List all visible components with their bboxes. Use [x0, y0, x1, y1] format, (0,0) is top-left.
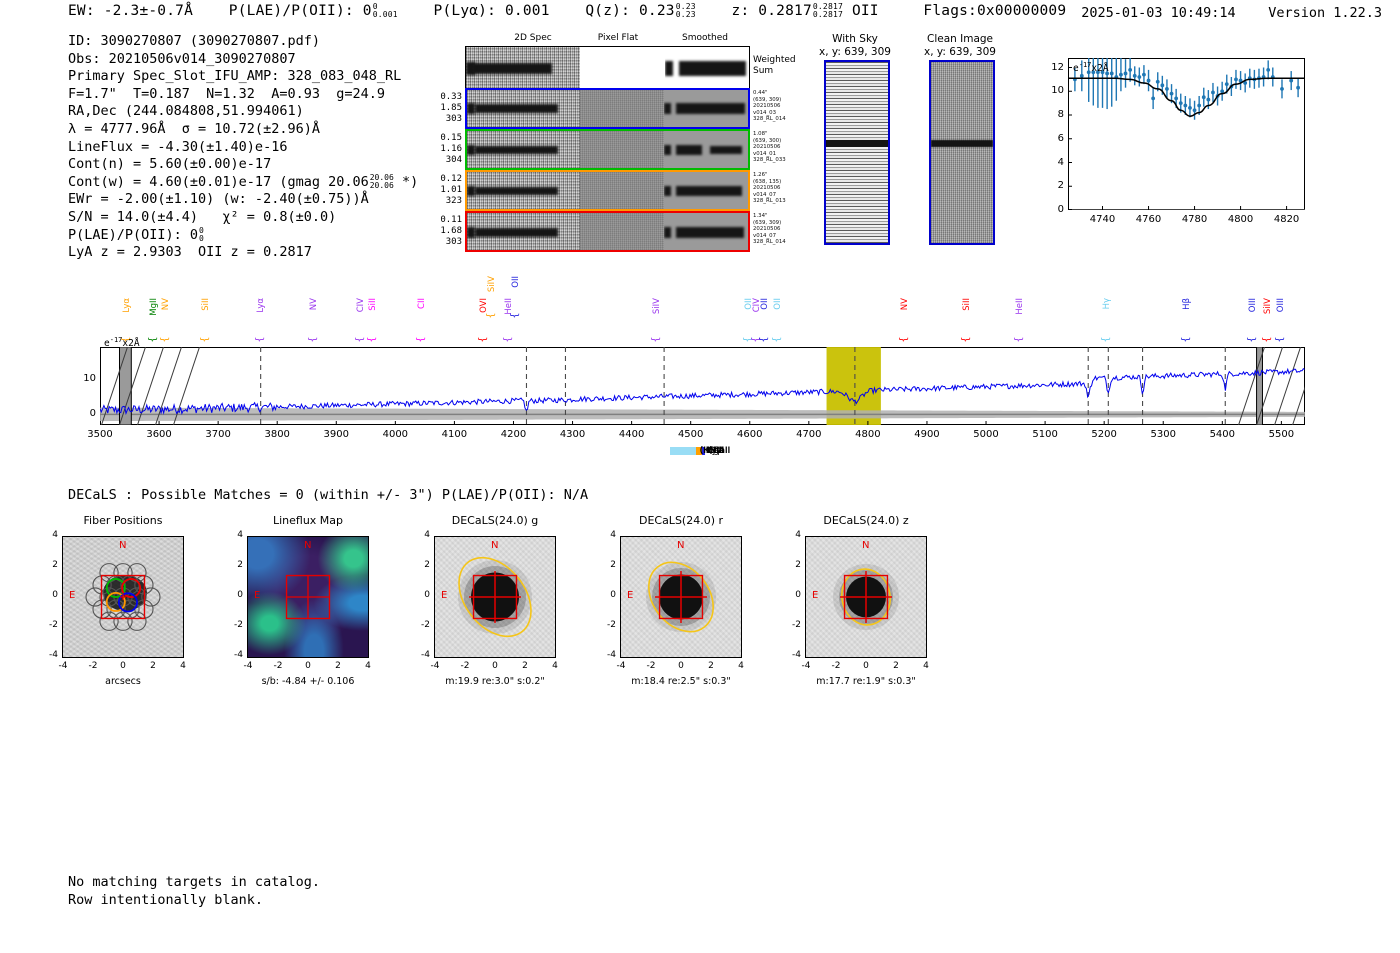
panel-ytick: -2 [44, 620, 58, 630]
clean-image[interactable] [929, 60, 995, 245]
spectrum-xtick: 3800 [255, 429, 299, 440]
spectrum-xtick: 3700 [196, 429, 240, 440]
panel-ytick: 0 [229, 590, 243, 600]
line-marker-brace: { [485, 312, 496, 318]
panel-xtick: 4 [359, 661, 377, 671]
panel-xtick: 0 [486, 661, 504, 671]
line-marker-brace: { [478, 336, 489, 342]
panel-ytick: -4 [229, 650, 243, 660]
line-marker-brace: { [1101, 336, 1112, 342]
line-marker-brace: { [1262, 336, 1273, 342]
line-marker-brace: { [502, 336, 513, 342]
fiber-row-3-meta: 1.26" (638, 135) 20210506 v014_07 328_RL… [753, 172, 813, 205]
panel-xtick: 4 [174, 661, 192, 671]
line-marker-label: CII [417, 298, 427, 309]
compass-north: N [304, 540, 311, 551]
info-primary-spec: Primary Spec_Slot_IFU_AMP: 328_083_048_R… [68, 68, 418, 86]
panel-title-decals: DECaLS(24.0) g [425, 514, 565, 527]
spectrum-xtick: 3600 [137, 429, 181, 440]
panel-xtick: 2 [702, 661, 720, 671]
panel-image-fiber[interactable] [62, 536, 184, 658]
panel-xtick: -2 [456, 661, 474, 671]
panel-xtick: -4 [239, 661, 257, 671]
info-cont-w-text: Cont(w) = 4.60(±0.01)e-17 (gmag 20.06 [68, 174, 369, 190]
spectrum-units: e-17x2Å [104, 336, 140, 349]
spectrum-xtick: 4300 [551, 429, 595, 440]
fit-ytick: 6 [1040, 133, 1064, 144]
header-z: z: 0.2817 [732, 3, 812, 19]
line-marker-label: NV [309, 298, 319, 310]
line-marker-label: NV [161, 298, 171, 310]
header-flags: Flags:0x00000009 [923, 3, 1066, 19]
line-marker-label: OII [511, 276, 521, 288]
spectrum-xtick: 4100 [432, 429, 476, 440]
line-marker-label: HeII [1015, 298, 1025, 315]
compass-north: N [491, 540, 498, 551]
line-fit-plot[interactable]: e-17x2Å 02468101247404760478048004820 [1040, 58, 1305, 233]
panel-ytick: 2 [44, 560, 58, 570]
spectrum-xtick: 5000 [964, 429, 1008, 440]
panel-caption-lineflux: s/b: -4.84 +/- 0.106 [208, 676, 408, 687]
panel-ytick: 0 [44, 590, 58, 600]
with-sky-image[interactable] [824, 60, 890, 245]
col-header-pixelflat: Pixel Flat [578, 33, 658, 43]
info-plae-poii: P(LAE)/P(OII): 000 [68, 227, 418, 245]
clean-image-header: Clean Image x, y: 639, 309 [895, 33, 1025, 59]
line-marker-brace: { [355, 336, 366, 342]
panel-caption-decals: m:17.7 re:1.9" s:0.3" [766, 676, 966, 687]
info-lambda: λ = 4777.96Å σ = 10.72(±2.96)Å [68, 121, 418, 139]
spectrum-xtick: 4500 [669, 429, 713, 440]
panel-caption-fiber: arcsecs [23, 676, 223, 687]
panel-ytick: -2 [787, 620, 801, 630]
fit-xtick: 4820 [1271, 214, 1303, 225]
compass-north: N [862, 540, 869, 551]
compass-east: E [254, 590, 260, 601]
header-plae-poii-label: P(LAE)/P(OII): [229, 3, 354, 19]
line-marker-label: Lyα [122, 298, 132, 313]
panel-xtick: -2 [642, 661, 660, 671]
info-redshifts: LyA z = 2.9303 OII z = 0.2817 [68, 244, 418, 262]
info-cont-n: Cont(n) = 5.60(±0.00)e-17 [68, 156, 418, 174]
panel-title-decals: DECaLS(24.0) z [796, 514, 936, 527]
panel-ytick: -2 [229, 620, 243, 630]
info-plae-text: P(LAE)/P(OII): 0 [68, 227, 198, 243]
info-lineflux: LineFlux = -4.30(±1.40)e-16 [68, 139, 418, 157]
spectrum-xtick: 3500 [78, 429, 122, 440]
spectrum-xtick: 4700 [787, 429, 831, 440]
compass-east: E [627, 590, 633, 601]
line-marker-label: SiII [368, 298, 378, 311]
line-marker-label: NV [900, 298, 910, 310]
spectrum-xtick: 5300 [1141, 429, 1185, 440]
compass-east: E [69, 590, 75, 601]
info-id: ID: 3090270807 (3090270807.pdf) [68, 33, 418, 51]
line-marker-label: OII [773, 298, 783, 310]
spectrum-xtick: 4200 [491, 429, 535, 440]
spectrum-xtick: 3900 [314, 429, 358, 440]
line-marker-brace: { [1275, 336, 1286, 342]
panel-xtick: -4 [612, 661, 630, 671]
info-sn-chi2: S/N = 14.0(±4.4) χ² = 0.8(±0.0) [68, 209, 418, 227]
compass-north: N [677, 540, 684, 551]
fiber-row-3-left-values: 0.12 1.01 323 [420, 174, 462, 207]
header-plae-poii-sub: 0.001 [373, 11, 398, 19]
panel-ytick: 4 [416, 530, 430, 540]
panel-ytick: -2 [416, 620, 430, 630]
compass-east: E [812, 590, 818, 601]
header-plae-poii-value: 0 [363, 3, 372, 19]
spectrum-xtick: 4000 [373, 429, 417, 440]
fiber-row-2-meta: 1.08" (639, 300) 20210506 v014_01 328_RL… [753, 131, 813, 164]
compass-north: N [119, 540, 126, 551]
full-spectrum-panel[interactable]: {Lyα{MgII{NV{SiII{Lyα{NV{CIV{SiII{CII{OV… [0, 272, 1400, 472]
panel-ytick: 2 [229, 560, 243, 570]
col-header-2dspec: 2D Spec [493, 33, 573, 43]
panel-xtick: 0 [299, 661, 317, 671]
panel-image-lineflux[interactable] [247, 536, 369, 658]
line-marker-brace: { [1181, 336, 1192, 342]
panel-ytick: 0 [416, 590, 430, 600]
panel-xtick: 2 [329, 661, 347, 671]
compass-east: E [441, 590, 447, 601]
spectrum-ytick: 10 [72, 373, 96, 384]
line-marker-brace: { [160, 336, 171, 342]
header-z-suffix: OII [852, 3, 879, 19]
panel-ytick: 4 [787, 530, 801, 540]
panel-xtick: -2 [827, 661, 845, 671]
legend-item: (H)CaII [670, 446, 731, 456]
line-marker-label: CIV [356, 298, 366, 312]
fiber-row-1-meta: 0.44" (639, 309) 20210506 v014_03 328_RL… [753, 90, 813, 123]
spectrum-xtick: 4600 [728, 429, 772, 440]
panel-xtick: 4 [917, 661, 935, 671]
info-radec: RA,Dec (244.084808,51.994061) [68, 103, 418, 121]
panel-title-fiber: Fiber Positions [53, 514, 193, 527]
line-marker-brace: { [961, 336, 972, 342]
fit-ytick: 10 [1040, 85, 1064, 96]
panel-xtick: 0 [857, 661, 875, 671]
panel-ytick: 4 [44, 530, 58, 540]
fit-ytick: 12 [1040, 62, 1064, 73]
line-marker-label: SiIV [652, 298, 662, 314]
panel-ytick: -4 [602, 650, 616, 660]
fiber-row-3[interactable]: 0.12 1.01 323 1.26" (638, 135) 20210506 … [420, 170, 820, 211]
line-marker-brace: { [772, 336, 783, 342]
spectrum-ytick: 0 [72, 408, 96, 419]
panel-image-decals[interactable] [434, 536, 556, 658]
header-qz: Q(z): 0.23 [585, 3, 674, 19]
fit-xtick: 4760 [1133, 214, 1165, 225]
info-obs: Obs: 20210506v014_3090270807 [68, 51, 418, 69]
line-marker-brace: { [898, 336, 909, 342]
info-cont-w: Cont(w) = 4.60(±0.01)e-17 (gmag 20.0620.… [68, 174, 418, 192]
weighted-sum-smoothed [665, 47, 749, 91]
header-summary-line: EW: -2.3±-0.7Å P(LAE)/P(OII): 000.001 P(… [68, 3, 1066, 19]
panel-ytick: 2 [787, 560, 801, 570]
line-marker-label: OVI [479, 298, 489, 313]
spectrum-xtick: 4800 [846, 429, 890, 440]
info-cont-w-sub: 20.06 [370, 182, 394, 190]
line-marker-label: SiIV [1263, 298, 1273, 314]
fit-xtick: 4800 [1225, 214, 1257, 225]
panel-ytick: 0 [602, 590, 616, 600]
legend-label: (H)CaII [700, 446, 731, 456]
line-marker-label: OIII [1248, 298, 1258, 312]
line-marker-label: SiIV [487, 276, 497, 292]
panel-image-decals[interactable] [620, 536, 742, 658]
line-marker-brace: { [254, 336, 265, 342]
line-marker-label: OII [760, 298, 770, 310]
panel-xtick: -2 [269, 661, 287, 671]
header-z-sub: 0.2817 [813, 11, 843, 19]
line-marker-brace: { [200, 336, 211, 342]
panel-xtick: -4 [54, 661, 72, 671]
line-marker-brace: { [1014, 336, 1025, 342]
fit-ytick: 8 [1040, 109, 1064, 120]
panel-ytick: 4 [602, 530, 616, 540]
fit-ytick: 0 [1040, 204, 1064, 215]
fit-xtick: 4740 [1087, 214, 1119, 225]
legend-swatch [670, 447, 696, 455]
spectrum-xtick: 5400 [1200, 429, 1244, 440]
fit-plot-units: e-17x2Å [1073, 61, 1109, 74]
line-marker-brace: { [416, 336, 427, 342]
line-marker-label: MgII [149, 298, 159, 316]
timestamp-version: 2025-01-03 10:49:14 Version 1.22.3 [1081, 5, 1382, 21]
line-marker-brace: { [367, 336, 378, 342]
info-ewr: EWr = -2.00(±1.10) (w: -2.40(±0.75))Å [68, 191, 418, 209]
line-marker-label: OIII [1276, 298, 1286, 312]
version-label: Version 1.22.3 [1268, 5, 1382, 21]
line-marker-brace: { [148, 336, 159, 342]
line-marker-brace: { [510, 312, 521, 318]
line-marker-label: SiII [201, 298, 211, 311]
fit-ytick: 2 [1040, 180, 1064, 191]
spectrum-xtick: 5100 [1023, 429, 1067, 440]
weighted-sum-2dspec [466, 47, 580, 91]
panel-xtick: -2 [84, 661, 102, 671]
panel-ytick: 4 [229, 530, 243, 540]
fiber-row-4[interactable]: 0.11 1.68 303 1.34" (639, 309) 20210506 … [420, 211, 820, 252]
spectrum-xtick: 5200 [1082, 429, 1126, 440]
fiber-row-1-left-values: 0.33 1.85 303 [420, 92, 462, 125]
header-plya: P(Lyα): 0.001 [434, 3, 550, 19]
info-cont-w-tail: *) [402, 174, 418, 190]
panel-title-lineflux: Lineflux Map [238, 514, 378, 527]
panel-ytick: 2 [602, 560, 616, 570]
panel-ytick: 2 [416, 560, 430, 570]
panel-ytick: -4 [44, 650, 58, 660]
footer-note: No matching targets in catalog. Row inte… [68, 874, 320, 909]
line-marker-brace: { [758, 336, 769, 342]
line-marker-label: Hβ [1182, 298, 1192, 310]
fiber-row-1[interactable]: 0.33 1.85 303 0.44" (639, 309) 20210506 … [420, 88, 820, 129]
source-info-block: ID: 3090270807 (3090270807.pdf) Obs: 202… [68, 33, 418, 262]
panel-caption-decals: m:19.9 re:3.0" s:0.2" [395, 676, 595, 687]
spectrum-xtick: 4900 [905, 429, 949, 440]
panel-xtick: -4 [797, 661, 815, 671]
line-marker-brace: { [1247, 336, 1258, 342]
panel-xtick: -4 [426, 661, 444, 671]
panel-ytick: 0 [787, 590, 801, 600]
decals-header: DECaLS : Possible Matches = 0 (within +/… [68, 487, 588, 503]
fiber-row-2-left-values: 0.15 1.16 304 [420, 133, 462, 166]
spec2d-weighted-sum-row [465, 46, 750, 92]
panel-xtick: 0 [114, 661, 132, 671]
panel-image-decals[interactable] [805, 536, 927, 658]
panel-ytick: -4 [787, 650, 801, 660]
panel-ytick: -2 [602, 620, 616, 630]
line-marker-label: Lyα [256, 298, 266, 313]
fit-ytick: 4 [1040, 157, 1064, 168]
spectrum-xtick: 5500 [1259, 429, 1303, 440]
panel-xtick: 2 [516, 661, 534, 671]
spectrum-xtick: 4400 [610, 429, 654, 440]
panel-title-decals: DECaLS(24.0) r [611, 514, 751, 527]
info-params: F=1.7" T=0.187 N=1.32 A=0.93 g=24.9 [68, 86, 418, 104]
emission-line-markers: {Lyα{MgII{NV{SiII{Lyα{NV{CIV{SiII{CII{OV… [100, 272, 1305, 425]
line-marker-label: Hγ [1102, 298, 1112, 309]
header-ew: EW: -2.3±-0.7Å [68, 3, 193, 19]
panel-caption-decals: m:18.4 re:2.5" s:0.3" [581, 676, 781, 687]
info-plae-sub: 0 [199, 235, 204, 243]
line-marker-brace: { [651, 336, 662, 342]
weighted-sum-pixelflat [580, 47, 664, 91]
timestamp: 2025-01-03 10:49:14 [1081, 5, 1235, 21]
col-header-smoothed: Smoothed [665, 33, 745, 43]
line-marker-brace: { [308, 336, 319, 342]
panel-xtick: 2 [887, 661, 905, 671]
fiber-row-4-meta: 1.34" (639, 309) 20210506 v014_07 328_RL… [753, 213, 813, 246]
line-marker-label: SiII [962, 298, 972, 311]
fiber-row-2[interactable]: 0.15 1.16 304 1.08" (639, 300) 20210506 … [420, 129, 820, 170]
panel-xtick: 2 [144, 661, 162, 671]
header-qz-sub: 0.23 [676, 11, 696, 19]
fiber-row-4-left-values: 0.11 1.68 303 [420, 215, 462, 248]
panel-xtick: 0 [672, 661, 690, 671]
panel-ytick: -4 [416, 650, 430, 660]
panel-xtick: 4 [732, 661, 750, 671]
panel-xtick: 4 [546, 661, 564, 671]
fit-xtick: 4780 [1179, 214, 1211, 225]
